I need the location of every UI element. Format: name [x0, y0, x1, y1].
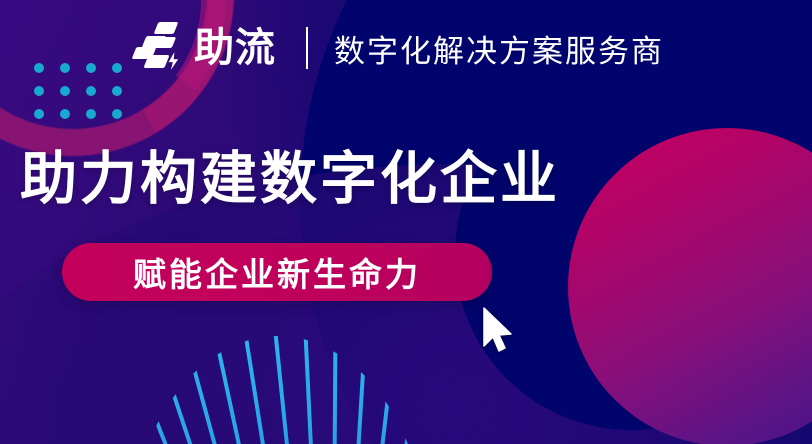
zhuliu-logo-mark-icon — [132, 20, 184, 76]
grid-dot — [112, 63, 122, 73]
logo-shard-1 — [154, 22, 179, 34]
grid-dot — [86, 109, 96, 119]
logo-wordmark: 助流 — [194, 28, 276, 68]
promo-banner: 助流 数字化解决方案服务商 助力构建数字化企业 赋能企业新生命力 — [0, 0, 812, 444]
grid-dot — [86, 63, 96, 73]
grid-dot — [34, 63, 44, 73]
header-tagline: 数字化解决方案服务商 — [334, 26, 664, 71]
grid-dot — [60, 63, 70, 73]
grid-dot — [34, 109, 44, 119]
grid-dot — [112, 86, 122, 96]
grid-dot — [86, 86, 96, 96]
lightning-bolt-icon — [168, 52, 179, 70]
grid-dot — [60, 86, 70, 96]
logo-shard-3 — [156, 37, 176, 48]
grid-dot — [60, 109, 70, 119]
cta-pill-label: 赋能企业新生命力 — [133, 248, 421, 296]
grid-dot — [34, 86, 44, 96]
fan-line — [302, 336, 318, 444]
fan-line — [332, 336, 338, 444]
fan-line — [271, 336, 300, 444]
dot-grid-decoration-icon — [34, 63, 122, 119]
cta-pill-button[interactable]: 赋能企业新生命力 — [62, 243, 492, 301]
logo-shard-5 — [143, 55, 169, 68]
mouse-cursor-arrow-icon — [481, 306, 515, 354]
page-title: 助力构建数字化企业 — [20, 148, 560, 211]
grid-dot — [112, 109, 122, 119]
header-divider — [306, 27, 308, 69]
banner-header: 助流 数字化解决方案服务商 — [132, 17, 664, 79]
